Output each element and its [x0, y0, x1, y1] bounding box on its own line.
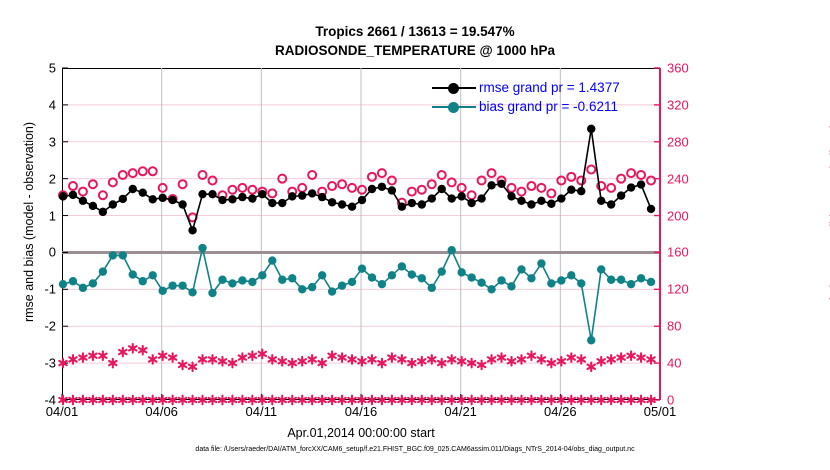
legend-label-rmse: rmse grand pr = 1.4377: [479, 80, 620, 95]
x-axis-tick: 04/16: [331, 404, 391, 419]
y-axis-right-tick: 280: [667, 134, 711, 149]
y-axis-right-tick: 240: [667, 171, 711, 186]
legend-label-bias: bias grand pr = -0.6211: [479, 99, 618, 114]
y-axis-right-tick: 160: [667, 245, 711, 260]
data-file-path: data file: /Users/raeder/DAI/ATM_forcXX/…: [0, 446, 830, 453]
x-axis-tick: 04/11: [231, 404, 291, 419]
legend-marker-rmse-icon: [432, 81, 476, 95]
y-axis-right-tick: 80: [667, 319, 711, 334]
figure-root: Tropics 2661 / 13613 = 19.547% RADIOSOND…: [0, 0, 830, 470]
legend-item-rmse[interactable]: rmse grand pr = 1.4377: [432, 78, 620, 97]
chart-title-line-2: RADIOSONDE_TEMPERATURE @ 1000 hPa: [0, 41, 830, 60]
legend-item-bias[interactable]: bias grand pr = -0.6211: [432, 97, 620, 116]
legend-marker-bias-icon: [432, 100, 476, 114]
chart-title: Tropics 2661 / 13613 = 19.547% RADIOSOND…: [0, 22, 830, 60]
x-axis-label: Apr.01,2014 00:00:00 start: [62, 426, 660, 440]
x-axis-tick: 05/01: [630, 404, 690, 419]
x-axis-tick: 04/21: [431, 404, 491, 419]
plot-area: [62, 68, 660, 400]
y-axis-right-tick: 320: [667, 97, 711, 112]
y-axis-right-tick: 120: [667, 282, 711, 297]
y-axis-right-tick: 200: [667, 208, 711, 223]
chart-title-line-1: Tropics 2661 / 13613 = 19.547%: [0, 22, 830, 41]
x-axis-tick: 04/01: [32, 404, 92, 419]
x-axis-tick: 04/06: [132, 404, 192, 419]
y-axis-right-tick: 360: [667, 61, 711, 76]
y-axis-right-tick: 40: [667, 356, 711, 371]
x-axis-tick: 04/26: [530, 404, 590, 419]
y-axis-left-label: rmse and bias (model - observation): [22, 62, 36, 382]
chart-legend: rmse grand pr = 1.4377 bias grand pr = -…: [432, 78, 620, 116]
